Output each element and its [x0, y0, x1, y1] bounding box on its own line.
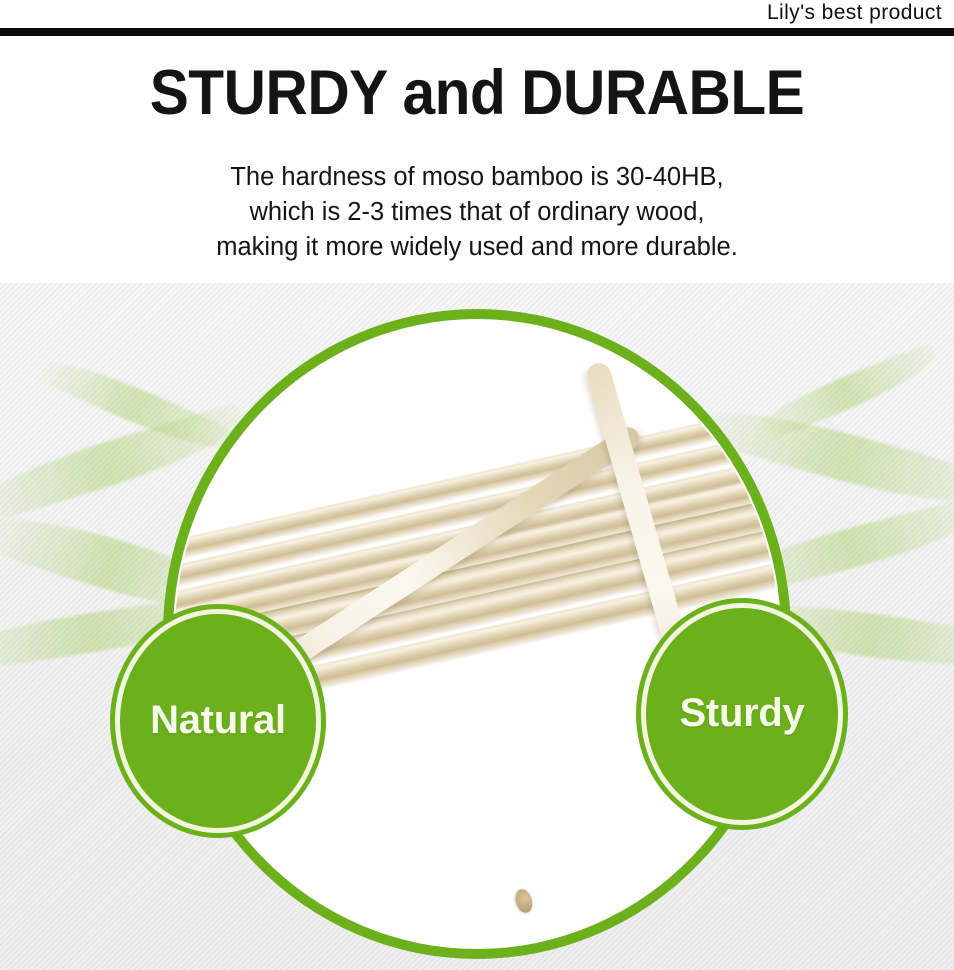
product-infographic: Lily's best product STURDY and DURABLE T… [0, 0, 954, 970]
description-line-1: The hardness of moso bamboo is 30-40HB, [0, 160, 954, 195]
bamboo-stick-end-tip [513, 887, 535, 914]
header-section: Lily's best product STURDY and DURABLE T… [0, 0, 954, 283]
description-line-2: which is 2-3 times that of ordinary wood… [0, 195, 954, 230]
description-line-3: making it more widely used and more dura… [0, 230, 954, 265]
feature-bubble-sturdy[interactable]: Sturdy [646, 608, 838, 820]
feature-panel: Natural Sturdy Durable Easy work [0, 283, 954, 970]
page-title: STURDY and DURABLE [33, 58, 920, 128]
brand-tag: Lily's best product [767, 1, 942, 25]
description-text: The hardness of moso bamboo is 30-40HB, … [0, 160, 954, 265]
feature-bubble-natural[interactable]: Natural [120, 614, 316, 828]
feature-label-sturdy: Sturdy [680, 693, 805, 735]
header-divider-rule [0, 28, 954, 36]
feature-label-natural: Natural [150, 700, 286, 742]
